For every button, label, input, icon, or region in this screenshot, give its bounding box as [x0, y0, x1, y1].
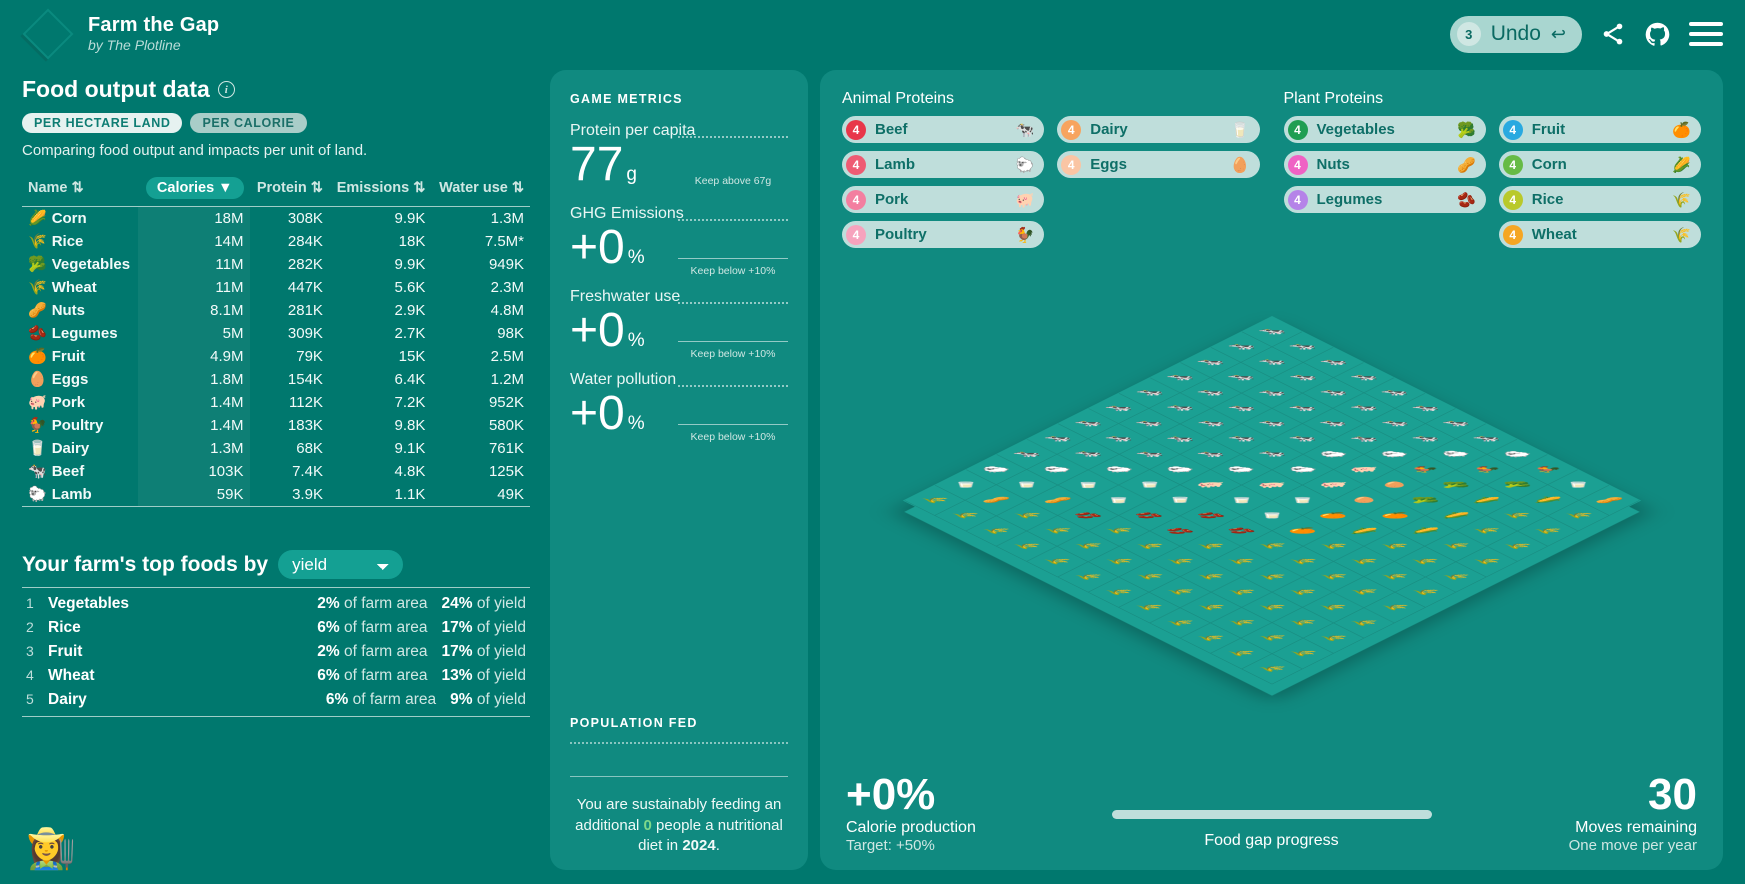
board-cell[interactable]: 🌾 — [1026, 546, 1087, 577]
board-tile-emoji: 🌾 — [1073, 543, 1102, 549]
food-name: Fruit — [48, 643, 82, 661]
table-row[interactable]: 🌽Corn18M308K9.9K1.3M — [22, 206, 530, 230]
board-cell[interactable]: 🌾 — [965, 515, 1026, 546]
top-foods-heading: Your farm's top foods by yieldareacalori… — [22, 550, 530, 579]
board-cell[interactable]: 🌾 — [1517, 515, 1578, 546]
board-cell[interactable]: 🫘 — [1057, 500, 1118, 531]
board-tile-emoji: 🐄 — [1104, 405, 1133, 411]
table-row[interactable]: 🌾Rice14M284K18K7.5M* — [22, 230, 530, 253]
list-item: 1Vegetables2% of farm area24% of yield — [22, 592, 530, 616]
board-cell[interactable]: 🌾 — [1547, 500, 1608, 531]
chip-count-badge: 4 — [846, 190, 866, 210]
toggle-per-hectare-land[interactable]: PER HECTARE LAND — [22, 113, 182, 133]
cell-name: 🌽Corn — [22, 206, 138, 230]
board-tile-emoji: 🥦 — [1441, 482, 1470, 488]
board-tile-emoji: 🌾 — [1227, 619, 1256, 625]
chip-rice[interactable]: 4Rice🌾 — [1499, 186, 1701, 213]
board-cell[interactable]: 🌽 — [1394, 515, 1455, 546]
metric-unit: % — [628, 247, 645, 268]
board-tile-emoji: 🐄 — [1257, 451, 1286, 457]
info-icon[interactable]: i — [218, 81, 235, 98]
chip-count-badge: 4 — [846, 225, 866, 245]
board-cell[interactable]: 🌾 — [1455, 515, 1516, 546]
chip-poultry[interactable]: 4Poultry🐓 — [842, 221, 1044, 248]
isometric-board-wrapper: 🐄🐄🐄🐄🐄🐄🐄🐄🐑🐓🥛🥜🐄🐄🐄🐄🐄🐄🐄🐑🐓🥦🌽🌾🐄🐄🐄🐄🐄🐄🐑🐓🥦🌽🌾🌾🐄🐄🐄🐄… — [820, 248, 1723, 773]
cell-water-use: 1.2M — [431, 368, 530, 391]
board-tile-emoji: 🌾 — [920, 497, 949, 503]
chip-eggs[interactable]: 4Eggs🥚 — [1057, 151, 1259, 178]
board-cell[interactable]: 🥛 — [1241, 500, 1302, 531]
board-cell[interactable]: 🌾 — [1180, 623, 1241, 654]
board-tile-emoji: 🥛 — [1227, 497, 1256, 503]
cell-name: 🐖Pork — [22, 391, 138, 414]
chip-legumes[interactable]: 4Legumes🫘 — [1284, 186, 1486, 213]
metric-item: Freshwater use+0%Keep below +10% — [570, 288, 788, 355]
board-tile-emoji: 🐖 — [1257, 482, 1286, 488]
board-tile-emoji: 🐖 — [1349, 466, 1378, 472]
board-tile-emoji: 🥚 — [1349, 497, 1378, 503]
food-name: Rice — [48, 619, 81, 637]
chip-dairy[interactable]: 4Dairy🥛 — [1057, 116, 1259, 143]
chip-label: Eggs — [1090, 156, 1127, 173]
cell-water-use: 7.5M* — [431, 230, 530, 253]
cell-name: 🐑Lamb — [22, 483, 138, 507]
board-cell[interactable]: 🌾 — [1180, 561, 1241, 592]
cell-calories: 11M — [138, 253, 249, 276]
board-cell[interactable]: 🌾 — [996, 531, 1057, 562]
metric-gauge: Keep below +10% — [678, 385, 788, 443]
board-cell[interactable]: 🌾 — [1363, 561, 1424, 592]
chip-count-badge: 4 — [1503, 190, 1523, 210]
board-tile-emoji: 🐄 — [1135, 420, 1164, 426]
table-row[interactable]: 🌾Wheat11M447K5.6K2.3M — [22, 276, 530, 299]
gauge-dots — [678, 302, 788, 309]
cell-emissions: 9.9K — [329, 253, 431, 276]
food-gap-progress-label: Food gap progress — [1204, 832, 1338, 850]
food-emoji-icon: 🍊 — [28, 348, 47, 365]
food-emoji-icon: 🥦 — [28, 256, 47, 273]
board-cell[interactable]: 🌾 — [1026, 515, 1087, 546]
table-row[interactable]: 🍊Fruit4.9M79K15K2.5M — [22, 345, 530, 368]
chip-fruit[interactable]: 4Fruit🍊 — [1499, 116, 1701, 143]
animal-proteins-group: Animal Proteins 4Beef🐄4Lamb🐑4Pork🐖4Poult… — [842, 90, 1260, 248]
chip-wheat[interactable]: 4Wheat🌾 — [1499, 221, 1701, 248]
yield-stat: 9% of yield — [450, 691, 526, 709]
board-cell[interactable]: 🌾 — [934, 500, 995, 531]
board-tile-emoji: 🌾 — [1012, 543, 1041, 549]
board-tile-emoji: 🌾 — [1502, 512, 1531, 518]
board-tile-emoji: 🍊 — [1318, 512, 1347, 518]
board-tile-emoji: 🌾 — [1012, 512, 1041, 518]
metric-item: GHG Emissions+0%Keep below +10% — [570, 205, 788, 272]
board-cell[interactable]: 🫘 — [1149, 515, 1210, 546]
chip-label: Wheat — [1532, 226, 1577, 243]
board-tile-emoji: 🐖 — [1196, 482, 1225, 488]
cell-protein: 308K — [250, 206, 329, 230]
board-tile-emoji: 🐄 — [1257, 390, 1286, 396]
board-cell[interactable]: 🌽 — [1425, 500, 1486, 531]
column-header-name[interactable]: Name⇅ — [22, 172, 138, 204]
board-cell[interactable]: 🌾 — [1241, 623, 1302, 654]
board-tile-emoji: 🐄 — [1472, 436, 1501, 442]
table-row[interactable]: 🐖Pork1.4M112K7.2K952K — [22, 391, 530, 414]
hamburger-menu-icon[interactable] — [1689, 22, 1723, 46]
board-cell[interactable]: 🌾 — [1333, 577, 1394, 608]
board-tile-emoji: 🥛 — [1135, 482, 1164, 488]
undo-button[interactable]: 3 Undo ↩ — [1450, 16, 1582, 53]
food-emoji-icon: 🌾 — [28, 279, 47, 296]
board-cell[interactable]: 🌾 — [1241, 592, 1302, 623]
cell-calories: 14M — [138, 230, 249, 253]
board-cell[interactable]: 🌾 — [1241, 531, 1302, 562]
board-tile-emoji: 🌾 — [1564, 512, 1593, 518]
cell-name: 🌾Wheat — [22, 276, 138, 299]
gauge-hint: Keep above 67g — [678, 175, 788, 187]
cell-emissions: 2.7K — [329, 322, 431, 345]
board-cell[interactable]: 🌾 — [1394, 577, 1455, 608]
board-tile-emoji: 🐑 — [1104, 466, 1133, 472]
board-cell[interactable]: 🌾 — [1241, 561, 1302, 592]
food-output-table: Name⇅ Calories▼ Protein⇅ Emissions⇅ Wate — [22, 172, 530, 508]
cell-emissions: 9.8K — [329, 414, 431, 437]
board-tile-emoji: 🐄 — [1380, 420, 1409, 426]
unit-toggle-group: PER HECTARE LAND PER CALORIE — [22, 113, 530, 133]
board-tile-emoji: 🐄 — [1349, 436, 1378, 442]
cell-name: 🐄Beef — [22, 460, 138, 483]
metric-item: Protein per capita77gKeep above 67g — [570, 122, 788, 189]
board-tile-emoji: 🌾 — [1257, 573, 1286, 579]
board-tile-emoji: 🥛 — [1104, 497, 1133, 503]
table-row[interactable]: 🐄Beef103K7.4K4.8K125K — [22, 460, 530, 483]
cell-calories: 1.4M — [138, 391, 249, 414]
food-gap-progress-bar — [1112, 810, 1432, 819]
board-tile-emoji: 🫘 — [1073, 512, 1102, 518]
yield-stat: 17% of yield — [442, 619, 526, 637]
board-cell[interactable]: 🌾 — [1118, 592, 1179, 623]
board-cell[interactable]: 🌾 — [1149, 577, 1210, 608]
board-tile-emoji: 🐄 — [1288, 344, 1317, 350]
board-cell[interactable]: 🫘 — [1210, 515, 1271, 546]
board-cell[interactable]: 🍊 — [1363, 500, 1424, 531]
board-cell[interactable]: 🌾 — [1180, 531, 1241, 562]
gauge-hint: Keep below +10% — [678, 431, 788, 443]
board-tile-emoji: 🥜 — [1043, 497, 1072, 503]
cell-water-use: 125K — [431, 460, 530, 483]
chip-beef[interactable]: 4Beef🐄 — [842, 116, 1044, 143]
population-dots-guide — [570, 742, 788, 744]
cell-emissions: 1.1K — [329, 483, 431, 507]
board-tile-emoji: 🌾 — [1043, 558, 1072, 564]
board-cell[interactable]: 🌽 — [1333, 515, 1394, 546]
isometric-farm-board[interactable]: 🐄🐄🐄🐄🐄🐄🐄🐄🐑🐓🥛🥜🐄🐄🐄🐄🐄🐄🐄🐑🐓🥦🌽🌾🐄🐄🐄🐄🐄🐄🐑🐓🥦🌽🌾🌾🐄🐄🐄🐄… — [904, 316, 1639, 684]
board-cell[interactable]: 🌾 — [1272, 607, 1333, 638]
board-tile-emoji: 🌽 — [1410, 528, 1439, 534]
board-tile-emoji: 🐄 — [1165, 374, 1194, 380]
farm-area-stat: 2% of farm area — [317, 595, 427, 613]
food-emoji-icon: 🥚 — [28, 371, 47, 388]
board-tile-emoji: 🫘 — [1227, 528, 1256, 534]
plant-proteins-column-1: 4Vegetables🥦4Nuts🥜4Legumes🫘 — [1284, 116, 1486, 248]
cell-water-use: 2.3M — [431, 276, 530, 299]
game-metrics-panel: GAME METRICS Protein per capita77gKeep a… — [550, 70, 808, 870]
board-cell[interactable]: 🌾 — [1118, 531, 1179, 562]
board-cell[interactable]: 🌾 — [1363, 531, 1424, 562]
metrics-list: Protein per capita77gKeep above 67gGHG E… — [570, 106, 788, 438]
cell-protein: 309K — [250, 322, 329, 345]
board-cell[interactable]: 🌾 — [1272, 546, 1333, 577]
board-tile-emoji: 🥛 — [951, 482, 980, 488]
table-row[interactable]: 🥦Vegetables11M282K9.9K949K — [22, 253, 530, 276]
board-tile-emoji: 🐄 — [1410, 405, 1439, 411]
board-cell[interactable]: 🌾 — [1210, 546, 1271, 577]
board-cell[interactable]: 🌾 — [1210, 638, 1271, 669]
board-cell[interactable]: 🌾 — [1088, 515, 1149, 546]
board-cell[interactable]: 🌾 — [1455, 546, 1516, 577]
cell-emissions: 5.6K — [329, 276, 431, 299]
board-tile-emoji: 🐄 — [1349, 405, 1378, 411]
food-name: Dairy — [48, 691, 87, 709]
cell-emissions: 7.2K — [329, 391, 431, 414]
metric-unit: g — [626, 164, 637, 185]
board-cell[interactable]: 🌾 — [1333, 607, 1394, 638]
chip-count-badge: 4 — [846, 155, 866, 175]
board-tile-emoji: 🐄 — [1196, 420, 1225, 426]
cell-name: 🥚Eggs — [22, 368, 138, 391]
cell-protein: 281K — [250, 299, 329, 322]
food-emoji-icon: 🌾 — [28, 233, 47, 250]
board-cell[interactable]: 🌾 — [1302, 623, 1363, 654]
chip-nuts[interactable]: 4Nuts🥜 — [1284, 151, 1486, 178]
cell-emissions: 18K — [329, 230, 431, 253]
board-cell[interactable]: 🌾 — [1241, 653, 1302, 684]
board-cell[interactable]: 🌾 — [1302, 592, 1363, 623]
chip-emoji-icon: 🌾 — [1672, 226, 1691, 244]
board-tile-emoji: 🌾 — [1441, 573, 1470, 579]
github-icon[interactable] — [1644, 21, 1671, 48]
board-cell[interactable]: 🌾 — [1088, 546, 1149, 577]
chip-count-badge: 4 — [1288, 190, 1308, 210]
board-tile-emoji: 🐄 — [1104, 436, 1133, 442]
board-cell[interactable]: 🫘 — [1118, 500, 1179, 531]
column-header-water-use[interactable]: Water use⇅ — [431, 172, 530, 204]
moves-remaining-value: 30 — [1457, 773, 1697, 817]
board-cell[interactable]: 🌾 — [1363, 592, 1424, 623]
chip-emoji-icon: 🥛 — [1231, 121, 1250, 139]
board-tile-emoji: 🐑 — [1165, 466, 1194, 472]
board-cell[interactable]: 🌾 — [1486, 500, 1547, 531]
rank: 5 — [26, 691, 48, 707]
chip-label: Corn — [1532, 156, 1567, 173]
board-cell[interactable]: 🌾 — [1180, 592, 1241, 623]
cell-calories: 5M — [138, 322, 249, 345]
chip-emoji-icon: 🥚 — [1231, 156, 1250, 174]
board-cell[interactable]: 🌾 — [1302, 561, 1363, 592]
cell-water-use: 1.3M — [431, 206, 530, 230]
cell-emissions: 9.9K — [329, 206, 431, 230]
table-row[interactable]: 🥜Nuts8.1M281K2.9K4.8M — [22, 299, 530, 322]
cell-protein: 112K — [250, 391, 329, 414]
board-tile-emoji: 🌾 — [1257, 543, 1286, 549]
gauge-bar — [678, 341, 788, 342]
board-cell[interactable]: 🌾 — [1149, 607, 1210, 638]
population-year: 2024 — [682, 837, 715, 854]
board-tile-emoji: 🌾 — [1135, 543, 1164, 549]
board-tile-emoji: 🌾 — [1227, 558, 1256, 564]
chip-count-badge: 4 — [846, 120, 866, 140]
board-cell[interactable]: 🌾 — [1394, 546, 1455, 577]
column-header-protein[interactable]: Protein⇅ — [250, 172, 329, 204]
chip-count-badge: 4 — [1503, 120, 1523, 140]
sort-icon: ⇅ — [72, 180, 84, 196]
board-tile-emoji: 🌾 — [1135, 604, 1164, 610]
board-tile-emoji: 🐑 — [1318, 451, 1347, 457]
board-tile-emoji: 🥜 — [1594, 497, 1623, 503]
board-cell[interactable]: 🌾 — [1272, 638, 1333, 669]
chip-pork[interactable]: 4Pork🐖 — [842, 186, 1044, 213]
board-tile-emoji: 🥚 — [1380, 482, 1409, 488]
calorie-production-value: +0% — [846, 773, 1086, 817]
metric-unit: % — [628, 330, 645, 351]
app-root: Farm the Gap by The Plotline 3 Undo ↩ — [0, 0, 1745, 884]
yield-stat: 13% of yield — [442, 667, 526, 685]
cell-water-use: 949K — [431, 253, 530, 276]
rank: 3 — [26, 643, 48, 659]
board-tile-emoji: 🌾 — [981, 527, 1010, 533]
board-tile-emoji: 🐄 — [1227, 374, 1256, 380]
board-tile-emoji: 🐄 — [1318, 359, 1347, 365]
chip-emoji-icon: 🐖 — [1016, 191, 1035, 209]
board-tile-emoji: 🌾 — [1104, 528, 1133, 534]
board-cell[interactable]: 🌾 — [1118, 561, 1179, 592]
board-cell[interactable]: 🌾 — [1486, 531, 1547, 562]
chip-corn[interactable]: 4Corn🌽 — [1499, 151, 1701, 178]
sort-icon: ⇅ — [413, 180, 425, 196]
farm-board-panel: Animal Proteins 4Beef🐄4Lamb🐑4Pork🐖4Poult… — [820, 70, 1723, 870]
board-cell[interactable]: 🌾 — [1302, 531, 1363, 562]
chip-vegetables[interactable]: 4Vegetables🥦 — [1284, 116, 1486, 143]
board-tile-emoji: 🐄 — [1196, 451, 1225, 457]
table-foot — [22, 506, 530, 508]
chip-emoji-icon: 🥦 — [1457, 121, 1476, 139]
board-cell[interactable]: 🌾 — [1425, 561, 1486, 592]
population-text-3: . — [716, 837, 720, 854]
board-tile-emoji: 🌾 — [1227, 650, 1256, 656]
cell-emissions: 9.1K — [329, 437, 431, 460]
board-tile-emoji: 🥛 — [1165, 497, 1194, 503]
board-tile-emoji: 🐄 — [1380, 390, 1409, 396]
moves-remaining-stat: 30 Moves remaining One move per year — [1457, 773, 1697, 854]
food-gap-progress: Food gap progress — [1086, 810, 1457, 854]
board-cell[interactable]: 🌾 — [1057, 531, 1118, 562]
board-cell[interactable]: 🌾 — [1088, 577, 1149, 608]
board-tile-emoji: 🌽 — [1533, 497, 1562, 503]
board-tile-emoji: 🥛 — [1073, 482, 1102, 488]
board-tile-emoji: 🌾 — [1196, 573, 1225, 579]
cell-protein: 282K — [250, 253, 329, 276]
board-tile-emoji: 🌾 — [1502, 543, 1531, 549]
column-header-emissions[interactable]: Emissions⇅ — [329, 172, 431, 204]
chip-lamb[interactable]: 4Lamb🐑 — [842, 151, 1044, 178]
board-tile-emoji: 🐄 — [1073, 420, 1102, 426]
table-row[interactable]: 🫘Legumes5M309K2.7K98K — [22, 322, 530, 345]
share-icon[interactable] — [1600, 21, 1626, 47]
board-tile-emoji: 🌾 — [1288, 589, 1317, 595]
board-tile-emoji: 🐄 — [1257, 359, 1286, 365]
list-item: 3Fruit2% of farm area17% of yield — [22, 640, 530, 664]
table-row[interactable]: 🐑Lamb59K3.9K1.1K49K — [22, 483, 530, 507]
list-item: 4Wheat6% of farm area13% of yield — [22, 664, 530, 688]
yield-stat: 17% of yield — [442, 643, 526, 661]
table-row[interactable]: 🥛Dairy1.3M68K9.1K761K — [22, 437, 530, 460]
toggle-per-calorie[interactable]: PER CALORIE — [190, 113, 306, 133]
cell-emissions: 6.4K — [329, 368, 431, 391]
food-emoji-icon: 🥛 — [28, 440, 47, 457]
board-cell[interactable]: 🌾 — [1333, 546, 1394, 577]
board-tile-emoji: 🐄 — [1318, 420, 1347, 426]
chip-label: Rice — [1532, 191, 1564, 208]
table-row[interactable]: 🥚Eggs1.8M154K6.4K1.2M — [22, 368, 530, 391]
chip-count-badge: 4 — [1061, 155, 1081, 175]
cell-protein: 3.9K — [250, 483, 329, 507]
board-tile-emoji: 🌾 — [1165, 558, 1194, 564]
chip-label: Legumes — [1317, 191, 1383, 208]
board-tile-emoji: 🐄 — [1196, 390, 1225, 396]
board-cell[interactable]: 🌾 — [1210, 577, 1271, 608]
board-cell[interactable]: 🌾 — [1057, 561, 1118, 592]
chip-emoji-icon: 🐑 — [1016, 156, 1035, 174]
board-cell[interactable]: 🌾 — [1210, 607, 1271, 638]
plant-proteins-group: Plant Proteins 4Vegetables🥦4Nuts🥜4Legume… — [1284, 90, 1702, 248]
table-row[interactable]: 🐓Poultry1.4M183K9.8K580K — [22, 414, 530, 437]
moves-remaining-sub: One move per year — [1457, 837, 1697, 854]
cell-name: 🐓Poultry — [22, 414, 138, 437]
chip-label: Beef — [875, 121, 908, 138]
cell-calories: 11M — [138, 276, 249, 299]
board-cell[interactable]: 🌾 — [996, 500, 1057, 531]
cell-emissions: 15K — [329, 345, 431, 368]
moves-remaining-label: Moves remaining — [1457, 819, 1697, 837]
board-tile-emoji: 🐄 — [1288, 436, 1317, 442]
board-tile-emoji: 🐄 — [1288, 374, 1317, 380]
board-tile-emoji: 🌾 — [1318, 573, 1347, 579]
board-tile-emoji: 🌾 — [1043, 528, 1072, 534]
cell-water-use: 761K — [431, 437, 530, 460]
board-tile-emoji: 🌾 — [1257, 604, 1286, 610]
column-header-calories[interactable]: Calories▼ — [138, 172, 249, 204]
board-tile-emoji: 🌾 — [1288, 558, 1317, 564]
board-cell[interactable]: 🌾 — [1149, 546, 1210, 577]
board-tile-emoji: 🫘 — [1165, 527, 1194, 533]
cell-calories: 4.9M — [138, 345, 249, 368]
board-cell[interactable]: 🫘 — [1180, 500, 1241, 531]
top-foods-sort-select[interactable]: yieldareacaloriesprotein — [278, 550, 403, 579]
chip-count-badge: 4 — [1288, 120, 1308, 140]
board-cell[interactable]: 🌾 — [1272, 577, 1333, 608]
board-cell[interactable]: 🌾 — [1425, 531, 1486, 562]
cell-name: 🫘Legumes — [22, 322, 138, 345]
board-cell[interactable]: 🍊 — [1272, 515, 1333, 546]
top-foods-section: Your farm's top foods by yieldareacalori… — [22, 550, 530, 717]
board-tile-emoji: 🐄 — [1073, 451, 1102, 457]
board-tile-emoji: 🌾 — [1288, 619, 1317, 625]
board-tile-emoji: 🐓 — [1472, 466, 1501, 472]
panel-caption: Comparing food output and impacts per un… — [22, 142, 530, 159]
board-cell[interactable]: 🍊 — [1302, 500, 1363, 531]
board-tile-emoji: 🌾 — [1257, 665, 1286, 671]
chip-count-badge: 4 — [1061, 120, 1081, 140]
board-tile-emoji: 🐄 — [1165, 405, 1194, 411]
app-title: Farm the Gap — [88, 14, 219, 37]
